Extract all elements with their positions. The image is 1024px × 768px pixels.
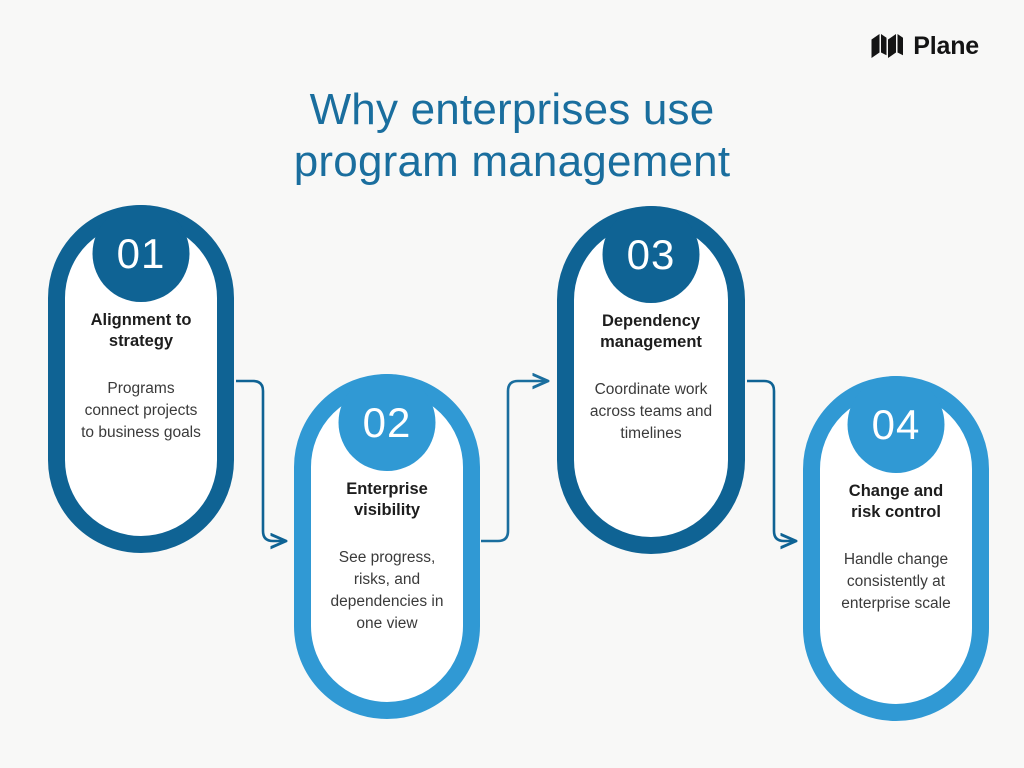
card-03-number: 03 xyxy=(627,234,676,276)
card-04[interactable]: 04 Change and risk control Handle change… xyxy=(803,376,989,721)
brand-logo: Plane xyxy=(870,33,979,59)
page-title-line-1: Why enterprises use xyxy=(0,84,1024,136)
card-03[interactable]: 03 Dependency management Coordinate work… xyxy=(557,206,745,554)
card-04-title: Change and risk control xyxy=(834,481,958,523)
connector-03-to-04 xyxy=(747,381,795,541)
card-02-description: See progress, risks, and dependencies in… xyxy=(325,547,449,635)
card-01-number-badge: 01 xyxy=(93,205,190,302)
card-02-number: 02 xyxy=(363,402,412,444)
card-04-number-badge: 04 xyxy=(848,376,945,473)
card-02-title: Enterprise visibility xyxy=(325,479,449,521)
connector-02-to-03 xyxy=(481,381,547,541)
card-03-number-badge: 03 xyxy=(603,206,700,303)
card-01-number: 01 xyxy=(117,233,166,275)
card-03-title: Dependency management xyxy=(588,311,714,353)
brand-name: Plane xyxy=(913,34,979,59)
card-04-description: Handle change consistently at enterprise… xyxy=(834,549,958,615)
page-title-line-2: program management xyxy=(0,136,1024,188)
card-01-title: Alignment to strategy xyxy=(79,310,203,352)
card-03-description: Coordinate work across teams and timelin… xyxy=(588,379,714,445)
card-02-number-badge: 02 xyxy=(339,374,436,471)
card-01-description: Programs connect projects to business go… xyxy=(79,378,203,444)
card-01[interactable]: 01 Alignment to strategy Programs connec… xyxy=(48,205,234,553)
card-04-number: 04 xyxy=(872,404,921,446)
page-title: Why enterprises use program management xyxy=(0,84,1024,188)
infographic-canvas: Plane Why enterprises use program manage… xyxy=(0,0,1024,768)
plane-logo-icon xyxy=(870,33,904,59)
connector-01-to-02 xyxy=(236,381,285,541)
card-02[interactable]: 02 Enterprise visibility See progress, r… xyxy=(294,374,480,719)
